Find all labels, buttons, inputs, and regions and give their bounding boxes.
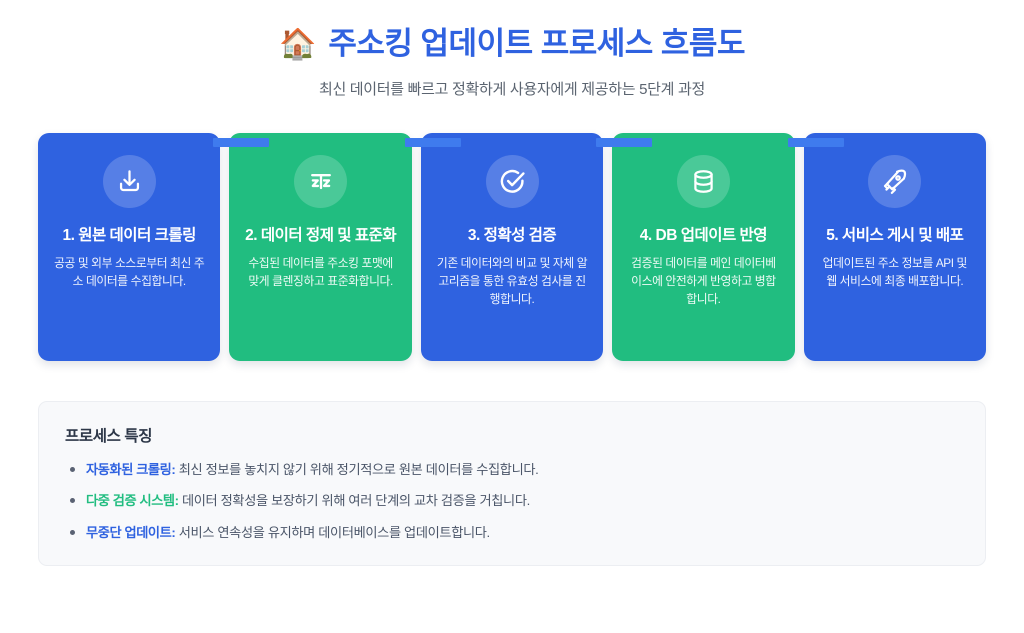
page-header: 🏠 주소킹 업데이트 프로세스 흐름도 최신 데이터를 빠르고 정확하게 사용자…	[0, 0, 1024, 99]
process-flow-page: 🏠 주소킹 업데이트 프로세스 흐름도 최신 데이터를 빠르고 정확하게 사용자…	[0, 0, 1024, 633]
process-features-panel: 프로세스 특징 자동화된 크롤링: 최신 정보를 놓치지 않기 위해 정기적으로…	[38, 401, 986, 566]
step-description-3: 기존 데이터와의 비교 및 자체 알고리즘을 통한 유효성 검사를 진행합니다.	[433, 255, 591, 309]
feature-label-2: 다중 검증 시스템:	[86, 493, 179, 508]
bullet-icon	[70, 530, 75, 535]
feature-text-3: 서비스 연속성을 유지하며 데이터베이스를 업데이트합니다.	[179, 525, 490, 540]
features-title: 프로세스 특징	[65, 424, 959, 446]
page-title-text: 주소킹 업데이트 프로세스 흐름도	[328, 26, 745, 62]
rocket-icon	[868, 155, 921, 208]
text-format-icon	[294, 155, 347, 208]
step-wrapper-5: 5. 서비스 게시 및 배포 업데이트된 주소 정보를 API 및 웹 서비스에…	[804, 133, 986, 361]
step-wrapper-2: 2. 데이터 정제 및 표준화 수집된 데이터를 주소킹 포맷에 맞게 클렌징하…	[229, 133, 411, 361]
process-steps: 1. 원본 데이터 크롤링 공공 및 외부 소스로부터 최신 주소 데이터를 수…	[38, 133, 986, 361]
step-connector-3	[405, 138, 461, 147]
feature-list-item-3: 무중단 업데이트: 서비스 연속성을 유지하며 데이터베이스를 업데이트합니다.	[65, 523, 959, 543]
feature-label-1: 자동화된 크롤링:	[86, 462, 175, 477]
step-title-3: 3. 정확성 검증	[466, 226, 558, 246]
step-connector-2	[213, 138, 269, 147]
step-title-5: 5. 서비스 게시 및 배포	[824, 226, 965, 246]
step-title-1: 1. 원본 데이터 크롤링	[60, 226, 197, 246]
process-step-card-1[interactable]: 1. 원본 데이터 크롤링 공공 및 외부 소스로부터 최신 주소 데이터를 수…	[38, 133, 220, 361]
process-step-card-2[interactable]: 2. 데이터 정제 및 표준화 수집된 데이터를 주소킹 포맷에 맞게 클렌징하…	[229, 133, 411, 361]
step-description-1: 공공 및 외부 소스로부터 최신 주소 데이터를 수집합니다.	[50, 255, 208, 291]
features-list: 자동화된 크롤링: 최신 정보를 놓치지 않기 위해 정기적으로 원본 데이터를…	[65, 460, 959, 543]
step-title-2: 2. 데이터 정제 및 표준화	[243, 226, 398, 246]
process-step-card-4[interactable]: 4. DB 업데이트 반영 검증된 데이터를 메인 데이터베이스에 안전하게 반…	[612, 133, 794, 361]
download-icon	[103, 155, 156, 208]
process-step-card-3[interactable]: 3. 정확성 검증 기존 데이터와의 비교 및 자체 알고리즘을 통한 유효성 …	[421, 133, 603, 361]
step-description-2: 수집된 데이터를 주소킹 포맷에 맞게 클렌징하고 표준화합니다.	[241, 255, 399, 291]
feature-list-item-2: 다중 검증 시스템: 데이터 정확성을 보장하기 위해 여러 단계의 교차 검증…	[65, 491, 959, 511]
feature-text-2: 데이터 정확성을 보장하기 위해 여러 단계의 교차 검증을 거칩니다.	[182, 493, 530, 508]
bullet-icon	[70, 467, 75, 472]
feature-label-3: 무중단 업데이트:	[86, 525, 175, 540]
feature-list-item-1: 자동화된 크롤링: 최신 정보를 놓치지 않기 위해 정기적으로 원본 데이터를…	[65, 460, 959, 480]
step-wrapper-1: 1. 원본 데이터 크롤링 공공 및 외부 소스로부터 최신 주소 데이터를 수…	[38, 133, 220, 361]
step-title-4: 4. DB 업데이트 반영	[638, 226, 769, 246]
step-connector-5	[788, 138, 844, 147]
check-circle-icon	[486, 155, 539, 208]
feature-text-1: 최신 정보를 놓치지 않기 위해 정기적으로 원본 데이터를 수집합니다.	[179, 462, 539, 477]
page-title: 🏠 주소킹 업데이트 프로세스 흐름도	[0, 26, 1024, 62]
page-subtitle: 최신 데이터를 빠르고 정확하게 사용자에게 제공하는 5단계 과정	[0, 78, 1024, 99]
step-wrapper-4: 4. DB 업데이트 반영 검증된 데이터를 메인 데이터베이스에 안전하게 반…	[612, 133, 794, 361]
step-description-5: 업데이트된 주소 정보를 API 및 웹 서비스에 최종 배포합니다.	[816, 255, 974, 291]
step-wrapper-3: 3. 정확성 검증 기존 데이터와의 비교 및 자체 알고리즘을 통한 유효성 …	[421, 133, 603, 361]
bullet-icon	[70, 498, 75, 503]
step-description-4: 검증된 데이터를 메인 데이터베이스에 안전하게 반영하고 병합합니다.	[624, 255, 782, 309]
process-step-card-5[interactable]: 5. 서비스 게시 및 배포 업데이트된 주소 정보를 API 및 웹 서비스에…	[804, 133, 986, 361]
house-icon: 🏠	[279, 30, 316, 60]
database-icon	[677, 155, 730, 208]
step-connector-4	[596, 138, 652, 147]
